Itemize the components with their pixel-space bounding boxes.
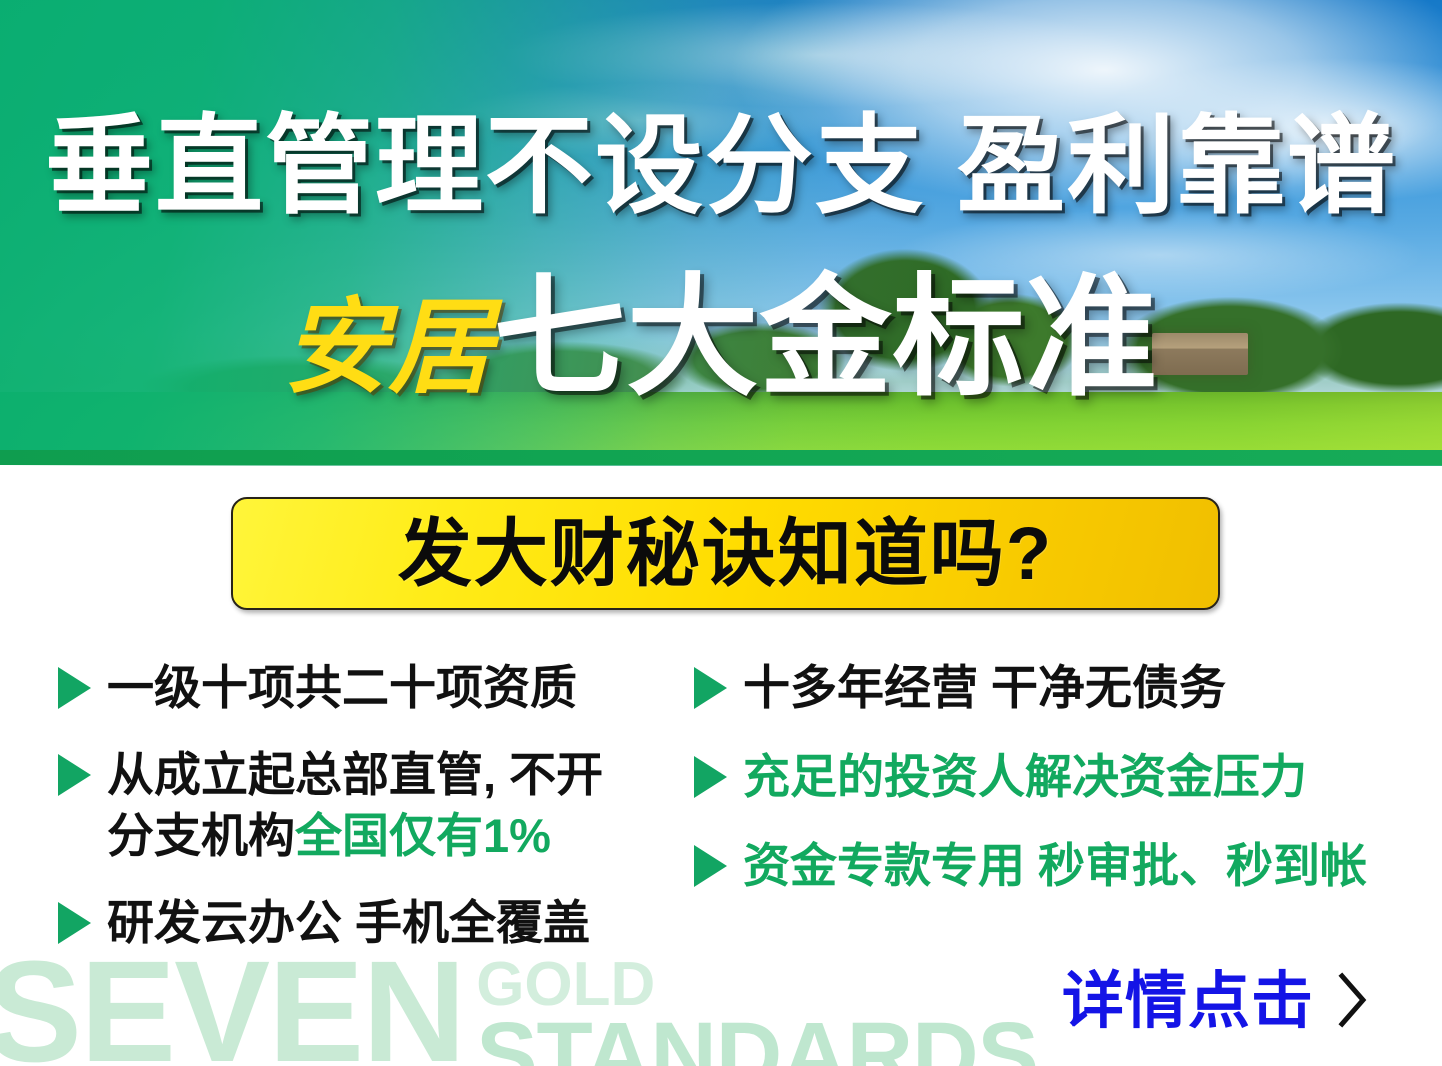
hero-headline: 垂直管理不设分支 盈利靠谱	[0, 112, 1442, 220]
hero-bottom-green-band	[0, 450, 1442, 465]
feature-column-right: 十多年经营 干净无债务 充足的投资人解决资金压力 资金专款专用 秒审批、秒到帐	[694, 655, 1414, 922]
watermark-standards-text: STANDARDS	[476, 1013, 1038, 1066]
hero-subheadline: 七大金标准	[494, 272, 1159, 404]
feature-text-line: 分支机构全国仅有1%	[107, 805, 603, 866]
hero-section: 垂直管理不设分支 盈利靠谱 安居七大金标准	[0, 0, 1442, 466]
feature-column-left: 一级十项共二十项资质 从成立起总部直管, 不开 分支机构全国仅有1% 研发云办公…	[58, 655, 698, 979]
feature-text-line: 十多年经营 干净无债务	[743, 657, 1226, 718]
feature-text-segment: 分支机构	[107, 809, 295, 862]
list-item: 研发云办公 手机全覆盖	[58, 892, 698, 953]
feature-text: 充足的投资人解决资金压力	[743, 746, 1307, 807]
feature-text: 十多年经营 干净无债务	[743, 657, 1226, 718]
feature-text-line: 从成立起总部直管, 不开	[107, 744, 603, 805]
promo-banner[interactable]: 发大财秘诀知道吗?	[231, 497, 1220, 610]
advertisement-banner: 垂直管理不设分支 盈利靠谱 安居七大金标准 发大财秘诀知道吗? SEVEN GO…	[0, 0, 1442, 1066]
feature-text: 从成立起总部直管, 不开 分支机构全国仅有1%	[107, 744, 603, 866]
list-item: 一级十项共二十项资质	[58, 657, 698, 718]
feature-text: 资金专款专用 秒审批、秒到帐	[743, 835, 1367, 896]
list-item: 充足的投资人解决资金压力	[694, 746, 1414, 807]
brand-name-text: 安居	[283, 296, 493, 400]
promo-banner-text: 发大财秘诀知道吗?	[398, 517, 1053, 591]
feature-text-highlight: 全国仅有1%	[295, 809, 551, 862]
feature-text-line: 研发云办公 手机全覆盖	[107, 892, 590, 953]
triangle-bullet-icon	[58, 754, 91, 796]
feature-text-line: 资金专款专用 秒审批、秒到帐	[743, 835, 1367, 896]
triangle-bullet-icon	[58, 667, 91, 709]
detail-link-button[interactable]: 详情点击	[1062, 968, 1370, 1035]
feature-list: 一级十项共二十项资质 从成立起总部直管, 不开 分支机构全国仅有1% 研发云办公…	[0, 655, 1442, 985]
hero-subheadline-group: 安居七大金标准	[0, 272, 1442, 404]
feature-text-line: 充足的投资人解决资金压力	[743, 746, 1307, 807]
list-item: 资金专款专用 秒审批、秒到帐	[694, 835, 1414, 896]
triangle-bullet-icon	[694, 845, 727, 887]
list-item: 十多年经营 干净无债务	[694, 657, 1414, 718]
detail-link-label: 详情点击	[1062, 971, 1314, 1033]
hero-bottom-mint-band	[0, 465, 1442, 466]
triangle-bullet-icon	[694, 756, 727, 798]
feature-text-line: 一级十项共二十项资质	[107, 657, 577, 718]
feature-text: 研发云办公 手机全覆盖	[107, 892, 590, 953]
feature-text: 一级十项共二十项资质	[107, 657, 577, 718]
triangle-bullet-icon	[694, 667, 727, 709]
triangle-bullet-icon	[58, 902, 91, 944]
list-item: 从成立起总部直管, 不开 分支机构全国仅有1%	[58, 744, 698, 866]
chevron-right-icon	[1336, 970, 1370, 1035]
